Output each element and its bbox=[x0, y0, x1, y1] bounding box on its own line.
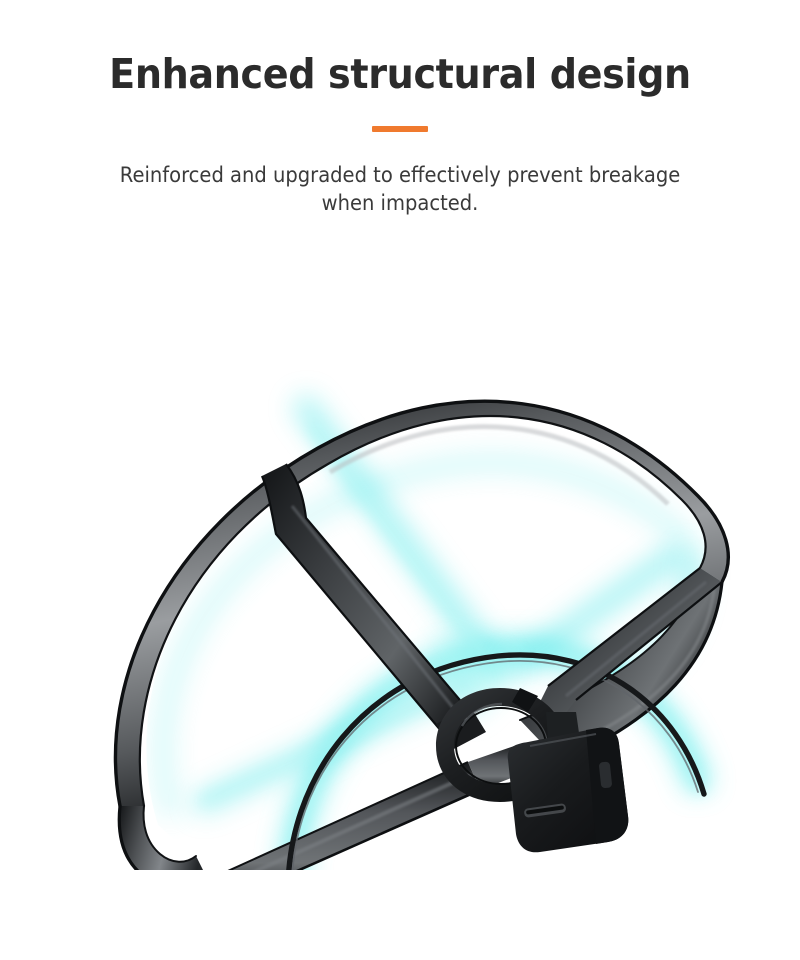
page-title: Enhanced structural design bbox=[28, 0, 772, 97]
product-image-area bbox=[0, 250, 800, 870]
header-block: Enhanced structural design Reinforced an… bbox=[0, 0, 800, 218]
bottom-rail bbox=[208, 744, 532, 870]
divider-wrap bbox=[0, 119, 800, 137]
accent-divider bbox=[372, 126, 428, 132]
page-subtitle: Reinforced and upgraded to effectively p… bbox=[93, 137, 707, 217]
propeller-guard-illustration bbox=[0, 250, 800, 870]
locking-clip bbox=[508, 712, 629, 852]
product-feature-page: Enhanced structural design Reinforced an… bbox=[0, 0, 800, 960]
